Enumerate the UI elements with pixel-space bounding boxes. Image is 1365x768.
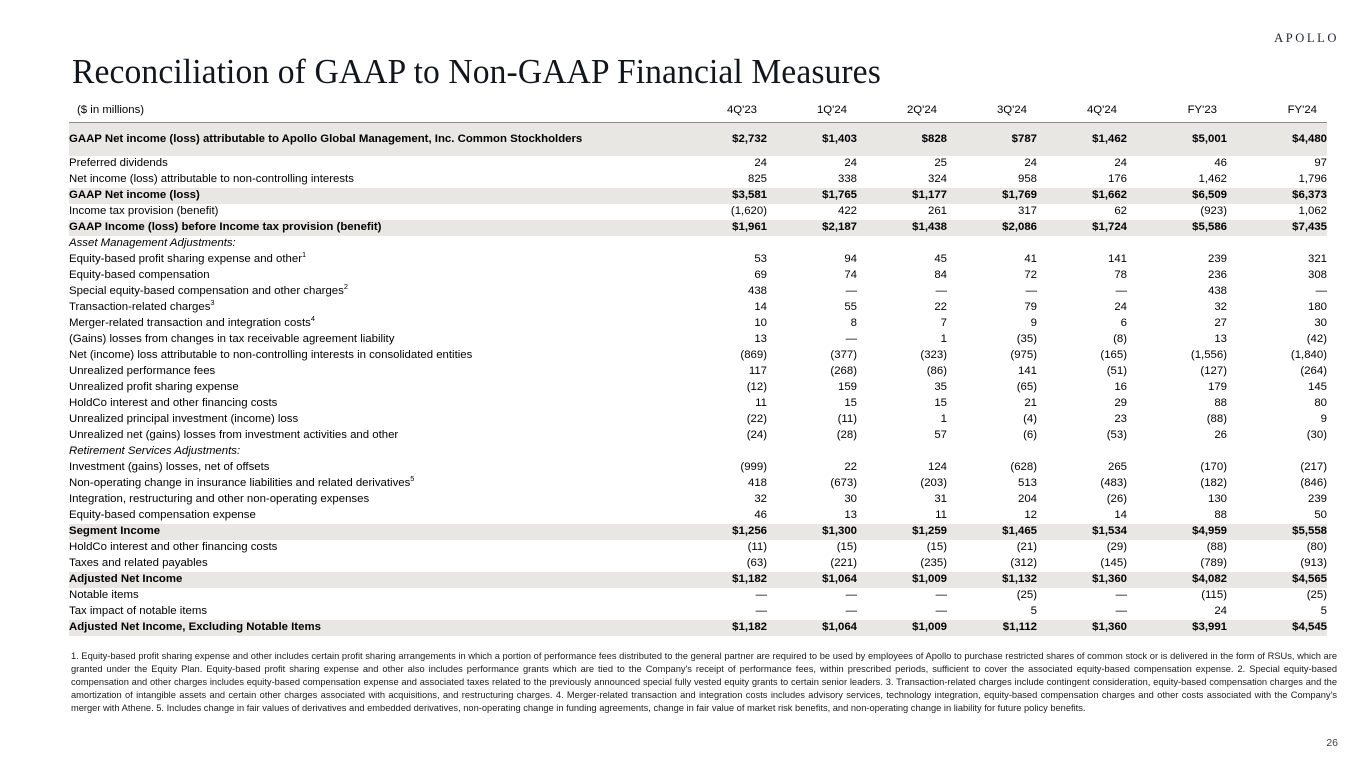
row-value-6: $5,558 [1227,524,1327,540]
row-value-3: 9 [947,316,1037,332]
table-body: GAAP Net income (loss) attributable to A… [69,123,1327,637]
row-value-4: $1,662 [1037,188,1127,204]
row-value-1: — [767,332,857,348]
table-row: Asset Management Adjustments: [69,236,1327,252]
row-value-1: (28) [767,428,857,444]
row-value-2: (323) [857,348,947,364]
row-value-2: 22 [857,300,947,316]
table-row: Adjusted Net Income, Excluding Notable I… [69,620,1327,636]
row-value-6: $4,565 [1227,572,1327,588]
row-value-3: 24 [947,156,1037,172]
row-value-1: — [767,284,857,300]
row-value-0: $1,961 [677,220,767,236]
row-value-4: (483) [1037,476,1127,492]
row-value-6: (846) [1227,476,1327,492]
table-row: HoldCo interest and other financing cost… [69,396,1327,412]
row-value-6: 30 [1227,316,1327,332]
table-row: GAAP Net income (loss) attributable to A… [69,123,1327,157]
row-label: Preferred dividends [69,156,677,172]
row-label: Segment Income [69,524,677,540]
row-value-4: (8) [1037,332,1127,348]
row-value-0: $1,256 [677,524,767,540]
row-value-0: 10 [677,316,767,332]
row-value-1: $1,064 [767,572,857,588]
row-label: GAAP Income (loss) before Income tax pro… [69,220,677,236]
row-value-5: 27 [1127,316,1227,332]
row-value-2: 1 [857,412,947,428]
row-value-3: 79 [947,300,1037,316]
row-value-1: 74 [767,268,857,284]
row-value-0: 438 [677,284,767,300]
row-value-3: 5 [947,604,1037,620]
table-row: GAAP Net income (loss)$3,581$1,765$1,177… [69,188,1327,204]
table-row: Investment (gains) losses, net of offset… [69,460,1327,476]
row-value-2: 124 [857,460,947,476]
row-value-2: — [857,588,947,604]
footnote-marker: 5 [410,474,414,483]
row-value-2: $828 [857,123,947,157]
row-value-2: 7 [857,316,947,332]
row-label: Net (income) loss attributable to non-co… [69,348,677,364]
row-value-2: 15 [857,396,947,412]
row-label: Notable items [69,588,677,604]
row-label: HoldCo interest and other financing cost… [69,396,677,412]
row-label: Net income (loss) attributable to non-co… [69,172,677,188]
row-value-5: 26 [1127,428,1227,444]
row-value-6: 80 [1227,396,1327,412]
row-value-3: $1,112 [947,620,1037,636]
row-value-1: (221) [767,556,857,572]
row-value-2: 84 [857,268,947,284]
row-value-5: 88 [1127,396,1227,412]
row-value-6 [1227,444,1327,460]
row-value-3: (21) [947,540,1037,556]
row-value-0: $1,182 [677,620,767,636]
row-value-4: $1,360 [1037,620,1127,636]
row-value-6: 321 [1227,252,1327,268]
row-value-3: 958 [947,172,1037,188]
row-value-0: 53 [677,252,767,268]
row-value-1: 24 [767,156,857,172]
table-row: Unrealized profit sharing expense(12)159… [69,380,1327,396]
row-value-2: (203) [857,476,947,492]
row-label: Income tax provision (benefit) [69,204,677,220]
row-value-2: (15) [857,540,947,556]
row-value-4: $1,724 [1037,220,1127,236]
row-value-5: 179 [1127,380,1227,396]
row-value-4: 176 [1037,172,1127,188]
row-value-2: — [857,604,947,620]
row-value-6: 97 [1227,156,1327,172]
table-row: Equity-based profit sharing expense and … [69,252,1327,268]
row-value-0: 32 [677,492,767,508]
row-value-6: 1,062 [1227,204,1327,220]
row-value-3: 21 [947,396,1037,412]
row-value-5: (789) [1127,556,1227,572]
row-value-3: (65) [947,380,1037,396]
table-row: Tax impact of notable items———5—245 [69,604,1327,620]
row-value-6: 9 [1227,412,1327,428]
table-row: HoldCo interest and other financing cost… [69,540,1327,556]
table-row: Retirement Services Adjustments: [69,444,1327,460]
row-value-4: 62 [1037,204,1127,220]
row-value-0: $2,732 [677,123,767,157]
row-value-3: (975) [947,348,1037,364]
row-value-1: 338 [767,172,857,188]
table-row: GAAP Income (loss) before Income tax pro… [69,220,1327,236]
row-value-0: (24) [677,428,767,444]
row-value-5: (923) [1127,204,1227,220]
row-value-5: $4,959 [1127,524,1227,540]
row-value-5: $5,586 [1127,220,1227,236]
row-label: Special equity-based compensation and ot… [69,284,677,300]
table-row: Preferred dividends24242524244697 [69,156,1327,172]
row-value-0: 418 [677,476,767,492]
row-value-1 [767,236,857,252]
footnote-marker: 4 [311,314,315,323]
table-row: Unrealized net (gains) losses from inves… [69,428,1327,444]
row-value-3: (628) [947,460,1037,476]
row-value-6: (80) [1227,540,1327,556]
reconciliation-table: ($ in millions) 4Q'23 1Q'24 2Q'24 3Q'24 … [69,101,1327,636]
row-label: HoldCo interest and other financing cost… [69,540,677,556]
row-value-5: (170) [1127,460,1227,476]
table-row: Equity-based compensation expense4613111… [69,508,1327,524]
row-value-4: 24 [1037,156,1127,172]
row-label: Merger-related transaction and integrati… [69,316,677,332]
row-value-5: 32 [1127,300,1227,316]
row-value-2: $1,177 [857,188,947,204]
row-value-6: (217) [1227,460,1327,476]
footnotes: 1. Equity-based profit sharing expense a… [71,650,1337,715]
row-value-3: 513 [947,476,1037,492]
row-value-4 [1037,444,1127,460]
row-value-0: (12) [677,380,767,396]
row-value-1: $1,300 [767,524,857,540]
table-row: Net income (loss) attributable to non-co… [69,172,1327,188]
row-value-4: (53) [1037,428,1127,444]
row-value-6: 239 [1227,492,1327,508]
row-value-5 [1127,236,1227,252]
column-header-1: 1Q'24 [767,101,857,123]
table-row: Notable items———(25)—(115)(25) [69,588,1327,604]
row-value-5: (1,556) [1127,348,1227,364]
row-value-2: $1,438 [857,220,947,236]
row-value-1: 422 [767,204,857,220]
footnote-marker: 2 [344,282,348,291]
row-value-1: (377) [767,348,857,364]
row-value-5: (88) [1127,412,1227,428]
page-title: Reconciliation of GAAP to Non-GAAP Finan… [72,52,881,92]
row-value-6 [1227,236,1327,252]
row-value-0: (1,620) [677,204,767,220]
row-label: Unrealized principal investment (income)… [69,412,677,428]
row-value-5: 88 [1127,508,1227,524]
column-header-6: FY'24 [1227,101,1327,123]
row-value-4: 24 [1037,300,1127,316]
row-value-6: (25) [1227,588,1327,604]
row-value-1: — [767,604,857,620]
row-value-3: (6) [947,428,1037,444]
row-value-1: 8 [767,316,857,332]
row-value-6: 1,796 [1227,172,1327,188]
row-label: Retirement Services Adjustments: [69,444,677,460]
row-value-5: 1,462 [1127,172,1227,188]
row-value-2: (235) [857,556,947,572]
row-value-3: 141 [947,364,1037,380]
row-value-4: $1,534 [1037,524,1127,540]
table-header-row: ($ in millions) 4Q'23 1Q'24 2Q'24 3Q'24 … [69,101,1327,123]
apollo-logo: APOLLO [1274,31,1339,46]
row-value-3: 204 [947,492,1037,508]
table-row: Unrealized principal investment (income)… [69,412,1327,428]
row-label: Adjusted Net Income, Excluding Notable I… [69,620,677,636]
row-value-3: (25) [947,588,1037,604]
row-value-3: 317 [947,204,1037,220]
row-value-2: 1 [857,332,947,348]
table-row: Integration, restructuring and other non… [69,492,1327,508]
row-value-2: 261 [857,204,947,220]
row-label: Non-operating change in insurance liabil… [69,476,677,492]
financial-table-container: ($ in millions) 4Q'23 1Q'24 2Q'24 3Q'24 … [69,101,1307,636]
row-value-4: 265 [1037,460,1127,476]
row-value-4: 16 [1037,380,1127,396]
row-value-5: $4,082 [1127,572,1227,588]
row-label: Transaction-related charges3 [69,300,677,316]
row-value-3: $2,086 [947,220,1037,236]
row-value-1: — [767,588,857,604]
row-value-6: 5 [1227,604,1327,620]
row-value-4: 29 [1037,396,1127,412]
row-value-6: (42) [1227,332,1327,348]
row-value-3: $1,132 [947,572,1037,588]
row-value-0: 69 [677,268,767,284]
slide-root: APOLLO Reconciliation of GAAP to Non-GAA… [0,0,1365,768]
row-value-1: (268) [767,364,857,380]
column-header-2: 2Q'24 [857,101,947,123]
table-row: Non-operating change in insurance liabil… [69,476,1327,492]
table-row: Transaction-related charges3145522792432… [69,300,1327,316]
row-value-3: 12 [947,508,1037,524]
row-value-1 [767,444,857,460]
row-value-1: $2,187 [767,220,857,236]
row-value-4: — [1037,588,1127,604]
row-value-3: $1,769 [947,188,1037,204]
row-value-6: 180 [1227,300,1327,316]
row-value-0: — [677,588,767,604]
row-value-6: $4,545 [1227,620,1327,636]
row-value-5: 130 [1127,492,1227,508]
row-label: GAAP Net income (loss) attributable to A… [69,123,677,157]
row-value-0: 117 [677,364,767,380]
row-value-4: 78 [1037,268,1127,284]
row-value-3: 41 [947,252,1037,268]
row-value-5: $5,001 [1127,123,1227,157]
row-value-3: (4) [947,412,1037,428]
row-value-5: (115) [1127,588,1227,604]
row-value-4: 23 [1037,412,1127,428]
row-value-3: — [947,284,1037,300]
table-row: Special equity-based compensation and ot… [69,284,1327,300]
page-number: 26 [1326,737,1338,749]
row-value-0: $3,581 [677,188,767,204]
table-row: Segment Income$1,256$1,300$1,259$1,465$1… [69,524,1327,540]
row-value-6: (264) [1227,364,1327,380]
row-value-5: 13 [1127,332,1227,348]
row-value-5 [1127,444,1227,460]
row-value-0: 13 [677,332,767,348]
row-value-1: 55 [767,300,857,316]
row-value-0: 24 [677,156,767,172]
row-value-4: — [1037,284,1127,300]
row-value-3: 72 [947,268,1037,284]
row-value-1: 94 [767,252,857,268]
row-value-0: (22) [677,412,767,428]
row-value-2: $1,009 [857,620,947,636]
row-label: GAAP Net income (loss) [69,188,677,204]
row-value-2: $1,009 [857,572,947,588]
row-value-0: 11 [677,396,767,412]
table-row: (Gains) losses from changes in tax recei… [69,332,1327,348]
row-label: Integration, restructuring and other non… [69,492,677,508]
row-value-2: — [857,284,947,300]
row-value-2 [857,444,947,460]
row-label: Equity-based profit sharing expense and … [69,252,677,268]
row-value-2: 11 [857,508,947,524]
row-value-3 [947,236,1037,252]
row-value-1: $1,403 [767,123,857,157]
row-value-2: 25 [857,156,947,172]
row-value-4: (165) [1037,348,1127,364]
row-value-0: 46 [677,508,767,524]
row-value-2: 57 [857,428,947,444]
footnote-marker: 3 [210,298,214,307]
row-value-5: (127) [1127,364,1227,380]
table-row: Income tax provision (benefit)(1,620)422… [69,204,1327,220]
row-value-2: 324 [857,172,947,188]
row-value-2: 45 [857,252,947,268]
row-value-1: 159 [767,380,857,396]
table-row: Adjusted Net Income$1,182$1,064$1,009$1,… [69,572,1327,588]
table-row: Equity-based compensation697484727823630… [69,268,1327,284]
table-row: Taxes and related payables(63)(221)(235)… [69,556,1327,572]
row-label: Equity-based compensation [69,268,677,284]
row-label: Unrealized performance fees [69,364,677,380]
row-value-1: (11) [767,412,857,428]
row-value-0: (869) [677,348,767,364]
table-row: Merger-related transaction and integrati… [69,316,1327,332]
row-value-0: $1,182 [677,572,767,588]
row-value-0: (11) [677,540,767,556]
row-value-4: 141 [1037,252,1127,268]
row-value-0: (63) [677,556,767,572]
row-value-0: 14 [677,300,767,316]
row-value-5: 24 [1127,604,1227,620]
row-value-6: 50 [1227,508,1327,524]
row-value-1: $1,064 [767,620,857,636]
row-value-5: (182) [1127,476,1227,492]
row-label: Unrealized profit sharing expense [69,380,677,396]
row-value-1: (15) [767,540,857,556]
row-value-4: (26) [1037,492,1127,508]
row-value-4: 6 [1037,316,1127,332]
table-row: Unrealized performance fees117(268)(86)1… [69,364,1327,380]
row-value-6: 145 [1227,380,1327,396]
row-value-3: $787 [947,123,1037,157]
row-value-1: 13 [767,508,857,524]
row-value-5: (88) [1127,540,1227,556]
row-label: Taxes and related payables [69,556,677,572]
row-value-4: $1,462 [1037,123,1127,157]
row-label: (Gains) losses from changes in tax recei… [69,332,677,348]
row-value-2: 35 [857,380,947,396]
footnotes-text: 1. Equity-based profit sharing expense a… [71,650,1337,715]
row-value-1: 22 [767,460,857,476]
row-value-4: (29) [1037,540,1127,556]
row-value-0 [677,444,767,460]
row-value-2: $1,259 [857,524,947,540]
row-label: Tax impact of notable items [69,604,677,620]
table-row: Net (income) loss attributable to non-co… [69,348,1327,364]
row-value-6: (30) [1227,428,1327,444]
footnote-marker: 1 [302,250,306,259]
row-value-3 [947,444,1037,460]
row-value-2 [857,236,947,252]
row-value-2: 31 [857,492,947,508]
row-label: Unrealized net (gains) losses from inves… [69,428,677,444]
row-value-4: (51) [1037,364,1127,380]
row-label: Adjusted Net Income [69,572,677,588]
column-header-3: 3Q'24 [947,101,1037,123]
unit-label: ($ in millions) [69,101,677,123]
row-value-1: (673) [767,476,857,492]
row-value-3: (35) [947,332,1037,348]
row-value-4 [1037,236,1127,252]
row-value-1: $1,765 [767,188,857,204]
row-value-0 [677,236,767,252]
row-value-6: — [1227,284,1327,300]
row-label: Asset Management Adjustments: [69,236,677,252]
row-value-0: — [677,604,767,620]
row-value-6: $4,480 [1227,123,1327,157]
row-value-5: $6,509 [1127,188,1227,204]
row-value-5: 438 [1127,284,1227,300]
row-label: Equity-based compensation expense [69,508,677,524]
row-value-4: 14 [1037,508,1127,524]
row-value-5: 236 [1127,268,1227,284]
row-value-6: (1,840) [1227,348,1327,364]
row-value-1: 30 [767,492,857,508]
row-value-4: (145) [1037,556,1127,572]
column-header-5: FY'23 [1127,101,1227,123]
row-value-4: $1,360 [1037,572,1127,588]
row-value-4: — [1037,604,1127,620]
row-value-3: (312) [947,556,1037,572]
row-value-6: $6,373 [1227,188,1327,204]
row-value-0: 825 [677,172,767,188]
row-value-5: 46 [1127,156,1227,172]
row-value-6: $7,435 [1227,220,1327,236]
row-value-5: $3,991 [1127,620,1227,636]
table-head: ($ in millions) 4Q'23 1Q'24 2Q'24 3Q'24 … [69,101,1327,123]
row-value-5: 239 [1127,252,1227,268]
column-header-4: 4Q'24 [1037,101,1127,123]
row-value-2: (86) [857,364,947,380]
row-value-6: (913) [1227,556,1327,572]
row-value-6: 308 [1227,268,1327,284]
column-header-0: 4Q'23 [677,101,767,123]
row-value-0: (999) [677,460,767,476]
